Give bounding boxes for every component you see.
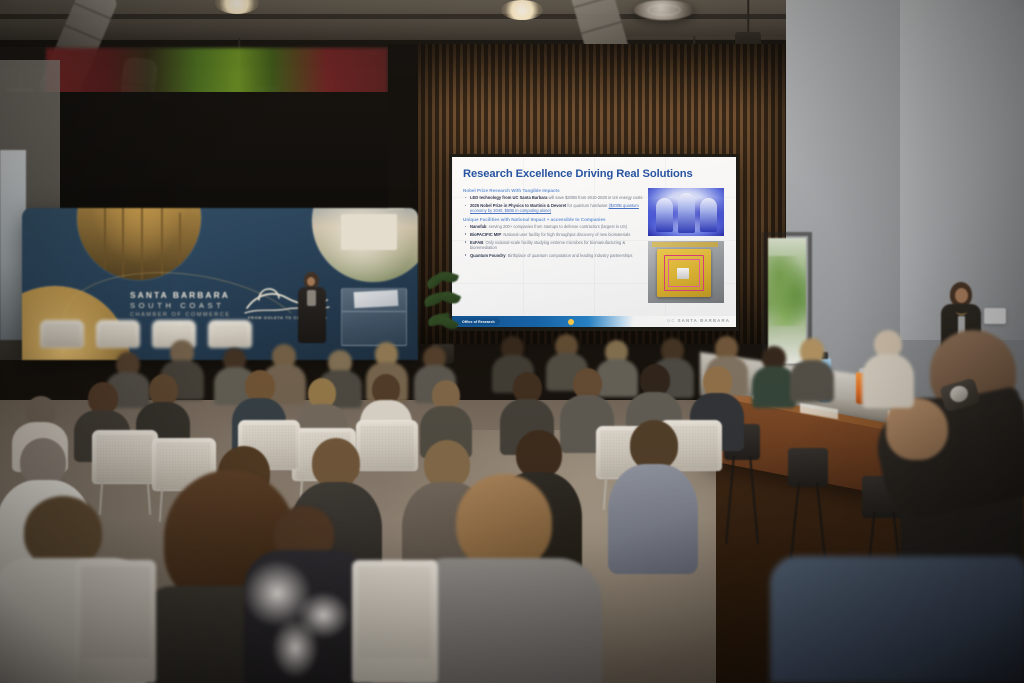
footer-accent-dot [568,319,574,325]
pendant-light [500,0,544,26]
audience-member [862,330,914,406]
slide-footer-bar: Office of Research UCSANTA BARBARA [452,316,736,327]
presenter-face [307,277,315,286]
slide-bullet-bold: LED technology from UC Santa Barbara [470,195,547,200]
pendant-light [214,0,260,20]
ucsb-wordmark: UCSANTA BARBARA [667,318,730,323]
presentation-room-scene: Research Excellence Driving Real Solutio… [0,0,1024,683]
microfluidic-chip-photo [648,241,724,303]
slide-bullet-text: : Birthplace of quantum computation and … [505,253,632,258]
event-chair [352,560,438,683]
necklace [956,308,967,315]
slide-body: Nobel Prize Research With Tangible Impac… [463,188,643,261]
slide-bullet: Quantum Foundry: Birthplace of quantum c… [463,253,643,258]
slide-bullet-text: for quantum hardware [566,203,608,208]
presenter-shirt [307,290,316,306]
quantum-cryostat-photo [648,188,724,236]
podium-document [354,290,399,308]
acrylic-podium [341,288,407,346]
office-of-research-badge: Office of Research [457,318,500,325]
foreground-jeans [770,556,1024,683]
stage-curtain [0,92,420,220]
mission-santa-barbara-circle-photo [312,208,418,282]
wall-dispenser [984,308,1006,324]
slide-bullet-bold: Nanofab [470,224,486,229]
audience-member [610,420,696,570]
slide-bullet-text: : National user facility for high throug… [501,232,630,237]
slide-bullet-bold: ExFAB [470,240,483,245]
slide-bullet-text: : serving 200+ companies from startups t… [486,224,627,229]
chip-die [677,268,689,279]
slide-bullet-bold: BioPACIFIC MIP [470,232,501,237]
mission-bell-tower [388,208,404,209]
slide-bullet: ExFAB: Only national-scale facility stud… [463,240,643,251]
slide-bullet-bold: 2025 Nobel Prize in Physics to Martinis … [470,203,566,208]
slide-bullet-text: will save $200B from 2010-2030 in US ene… [547,195,642,200]
presenter-at-podium [296,272,330,352]
audience-member [790,338,834,400]
slide-section-heading: Unique Facilities with National Impact +… [463,217,643,223]
slide-bullet: 2025 Nobel Prize in Physics to Martinis … [463,203,643,214]
slide-bullet: BioPACIFIC MIP: National user facility f… [463,232,643,237]
ucsb-name: SANTA BARBARA [678,318,730,323]
slide-title: Research Excellence Driving Real Solutio… [463,168,721,180]
slide-bullet-text: : Only national-scale facility studying … [470,240,625,250]
chip-photo-label [652,242,718,247]
attendee-face [955,288,968,303]
wall-mural [46,48,388,96]
presentation-slide: Research Excellence Driving Real Solutio… [452,157,736,327]
stage-chair [40,320,84,362]
ucsb-prefix: UC [667,318,676,323]
slide-bullet: LED technology from UC Santa Barbara wil… [463,195,643,200]
palm-trees-circle-photo [77,208,201,280]
ceiling-air-diffuser [634,0,694,20]
mission-building [341,214,397,251]
chip-board [657,249,711,297]
slide-bullet-bold: Quantum Foundry [470,253,505,258]
slide-section-heading: Nobel Prize Research With Tangible Impac… [463,188,643,194]
event-chair [76,560,156,683]
slide-bullet: Nanofab: serving 200+ companies from sta… [463,224,643,229]
